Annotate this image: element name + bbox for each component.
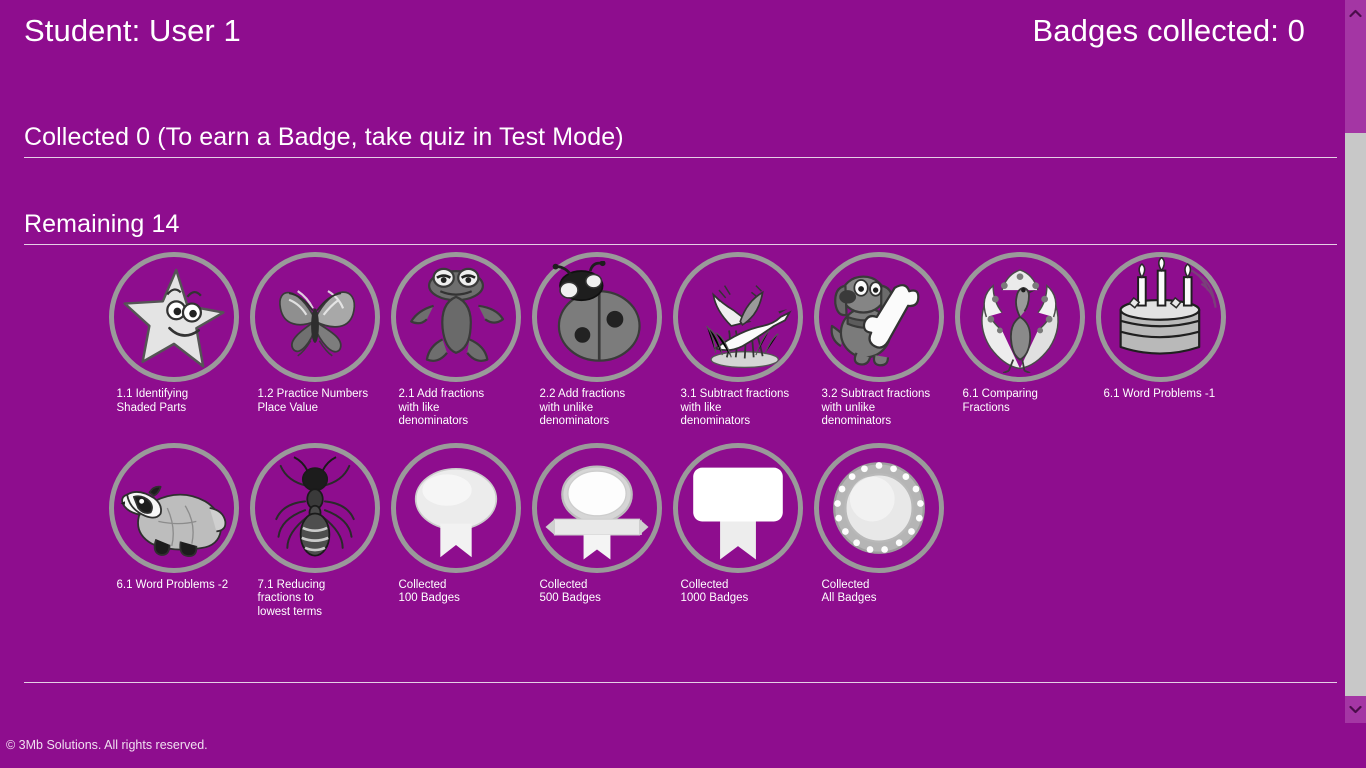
scroll-up-arrow-icon[interactable] [1345, 0, 1366, 27]
vertical-scrollbar[interactable] [1345, 0, 1366, 768]
badge-label: Collected 1000 Badges [673, 579, 803, 606]
badge-label: 3.2 Subtract fractions with unlike denom… [814, 388, 944, 429]
scroll-down-arrow-icon[interactable] [1345, 696, 1366, 723]
badge-label: Collected 500 Badges [532, 579, 662, 606]
badge-label: 3.1 Subtract fractions with like denomin… [673, 388, 803, 429]
badge-label: 7.1 Reducing fractions to lowest terms [250, 579, 380, 620]
badge-item[interactable]: Collected 100 Badges [385, 443, 526, 620]
badge-item[interactable]: 1.1 Identifying Shaded Parts [103, 252, 244, 429]
badger-icon[interactable] [109, 443, 239, 573]
remaining-section: Remaining 14 [24, 207, 1337, 245]
badge-item[interactable]: 6.1 Comparing Fractions [949, 252, 1090, 429]
badge-label: 1.1 Identifying Shaded Parts [109, 388, 239, 415]
badges-collected-count: Badges collected: 0 [1033, 10, 1305, 52]
page-header: Student: User 1 Badges collected: 0 [0, 0, 1345, 70]
badge-item[interactable]: 2.2 Add fractions with unlike denominato… [526, 252, 667, 429]
dog-bone-icon[interactable] [814, 252, 944, 382]
frog-icon[interactable] [391, 252, 521, 382]
scrollbar-end-pad [1345, 723, 1366, 768]
student-name-title: Student: User 1 [24, 10, 241, 52]
badge-label: Collected 100 Badges [391, 579, 521, 606]
starfish-icon[interactable] [109, 252, 239, 382]
ribbon-oval-icon[interactable] [391, 443, 521, 573]
badge-label: 2.1 Add fractions with like denominators [391, 388, 521, 429]
collected-section-title: Collected 0 (To earn a Badge, take quiz … [24, 120, 1337, 157]
badge-item[interactable]: 1.2 Practice Numbers Place Value [244, 252, 385, 429]
bottom-divider [24, 682, 1337, 683]
badge-label: 6.1 Comparing Fractions [955, 388, 1085, 415]
butterfly-icon[interactable] [250, 252, 380, 382]
cake-icon[interactable] [1096, 252, 1226, 382]
badge-label: 6.1 Word Problems -2 [109, 579, 239, 593]
remaining-section-title: Remaining 14 [24, 207, 1337, 244]
ribbon-banner-icon[interactable] [532, 443, 662, 573]
ladybug-icon[interactable] [532, 252, 662, 382]
badges-page: Student: User 1 Badges collected: 0 Coll… [0, 0, 1366, 768]
ribbon-plaque-icon[interactable] [673, 443, 803, 573]
badge-item[interactable]: Collected 500 Badges [526, 443, 667, 620]
badge-item[interactable]: 6.1 Word Problems -1 [1090, 252, 1231, 429]
badge-label: Collected All Badges [814, 579, 944, 606]
collected-section-divider [24, 157, 1337, 158]
badge-label: 2.2 Add fractions with unlike denominato… [532, 388, 662, 429]
remaining-section-divider [24, 244, 1337, 245]
badge-label: 6.1 Word Problems -1 [1096, 388, 1226, 402]
badge-item[interactable]: 2.1 Add fractions with like denominators [385, 252, 526, 429]
ant-icon[interactable] [250, 443, 380, 573]
badge-item[interactable]: 3.2 Subtract fractions with unlike denom… [808, 252, 949, 429]
badge-item[interactable]: 3.1 Subtract fractions with like denomin… [667, 252, 808, 429]
badge-item[interactable]: 6.1 Word Problems -2 [103, 443, 244, 620]
badge-item[interactable]: 7.1 Reducing fractions to lowest terms [244, 443, 385, 620]
badge-item[interactable]: Collected All Badges [808, 443, 949, 620]
badge-item[interactable]: Collected 1000 Badges [667, 443, 808, 620]
collected-section: Collected 0 (To earn a Badge, take quiz … [24, 120, 1337, 158]
medal-disc-icon[interactable] [814, 443, 944, 573]
badge-label: 1.2 Practice Numbers Place Value [250, 388, 380, 415]
peacock-icon[interactable] [955, 252, 1085, 382]
remaining-badges-grid: 1.1 Identifying Shaded Parts 1.2 Practic… [103, 252, 1283, 633]
footer-copyright: © 3Mb Solutions. All rights reserved. [6, 738, 208, 752]
crane-icon[interactable] [673, 252, 803, 382]
